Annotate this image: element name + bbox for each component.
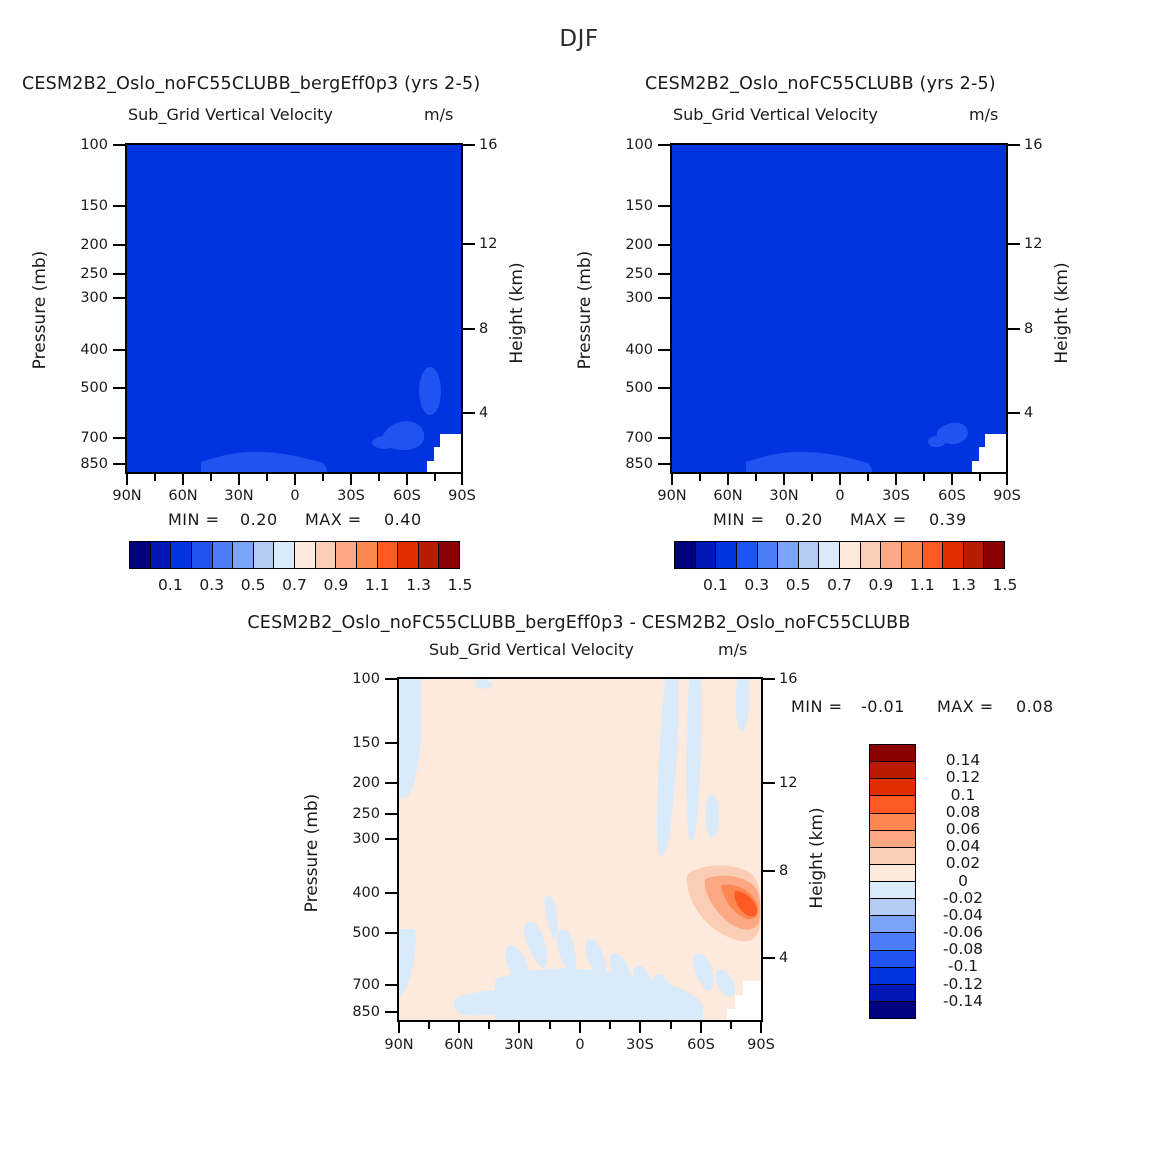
x-tick-label-90N-bottom: 90N xyxy=(369,1037,429,1053)
max-label-bottom: MAX = xyxy=(937,697,994,716)
y-right-tick-label-16-b: 16 xyxy=(779,671,797,687)
x-tick-label-90S-top-right: 90S xyxy=(977,488,1037,504)
colorbar-top-left xyxy=(129,541,460,569)
colorbar-cell xyxy=(870,762,915,779)
colorbar-cell xyxy=(758,542,779,568)
plot-area-bottom xyxy=(397,677,763,1022)
y-tick-label-150-r: 150 xyxy=(608,198,653,214)
colorbar-tick-label: 0.1 xyxy=(150,576,190,594)
y-tick-label-100-r: 100 xyxy=(608,137,653,153)
min-label-bottom: MIN = xyxy=(791,697,842,716)
colorbar-tick-label: 0.5 xyxy=(233,576,273,594)
colorbar-tick-label: -0.12 xyxy=(920,975,1006,993)
x-tick-label-0-bottom: 0 xyxy=(550,1037,610,1053)
y-tick-label-700-r: 700 xyxy=(608,430,653,446)
y-tick-label-300: 300 xyxy=(63,290,108,306)
colorbar-tick-label: -0.1 xyxy=(920,957,1006,975)
max-value-top-right: 0.39 xyxy=(929,510,967,529)
x-tick-label-90S-bottom: 90S xyxy=(731,1037,791,1053)
colorbar-cell xyxy=(398,542,419,568)
colorbar-cell xyxy=(716,542,737,568)
y-tick-label-850-b: 850 xyxy=(335,1004,380,1020)
colorbar-tick-label: 1.5 xyxy=(985,576,1025,594)
colorbar-tick-label: 0.02 xyxy=(920,854,1006,872)
colorbar-cell xyxy=(870,933,915,950)
y-tick-label-850-r: 850 xyxy=(608,456,653,472)
max-label-top-left: MAX = xyxy=(305,510,362,529)
min-value-top-right: 0.20 xyxy=(785,510,823,529)
colorbar-bottom xyxy=(869,744,916,1019)
y-axis-title-right-bottom: Height (km) xyxy=(807,782,827,934)
y-tick-label-400: 400 xyxy=(63,342,108,358)
colorbar-cell xyxy=(254,542,275,568)
y-right-tick-label-12: 12 xyxy=(479,236,497,252)
colorbar-cell xyxy=(778,542,799,568)
colorbar-cell xyxy=(840,542,861,568)
min-value-bottom: -0.01 xyxy=(861,697,905,716)
y-tick-label-150-b: 150 xyxy=(335,735,380,751)
x-tick-label-30S-bottom: 30S xyxy=(610,1037,670,1053)
y-right-tick-label-4-r: 4 xyxy=(1024,405,1033,421)
panel-units-bottom: m/s xyxy=(718,640,747,659)
colorbar-tick-label: 1.1 xyxy=(357,576,397,594)
colorbar-cell xyxy=(696,542,717,568)
y-right-tick-label-16-r: 16 xyxy=(1024,137,1042,153)
max-value-bottom: 0.08 xyxy=(1016,697,1054,716)
colorbar-cell xyxy=(357,542,378,568)
colorbar-cell xyxy=(870,779,915,796)
panel-variable-top-right: Sub_Grid Vertical Velocity xyxy=(673,105,878,124)
y-tick-label-300-b: 300 xyxy=(335,831,380,847)
colorbar-cell xyxy=(151,542,172,568)
y-axis-title-right-top-left: Height (km) xyxy=(507,237,527,389)
x-tick-label-30N-bottom: 30N xyxy=(489,1037,549,1053)
contour-field-bottom xyxy=(399,679,761,1020)
colorbar-cell xyxy=(378,542,399,568)
y-tick-label-500-r: 500 xyxy=(608,380,653,396)
colorbar-cell xyxy=(737,542,758,568)
y-right-tick-label-4-b: 4 xyxy=(779,950,788,966)
panel-variable-bottom: Sub_Grid Vertical Velocity xyxy=(429,640,634,659)
colorbar-cell xyxy=(439,542,459,568)
colorbar-tick-label: 0.3 xyxy=(192,576,232,594)
colorbar-cell xyxy=(870,1002,915,1018)
y-tick-label-200: 200 xyxy=(63,237,108,253)
colorbar-tick-label: 0.7 xyxy=(275,576,315,594)
colorbar-tick-label: 1.3 xyxy=(399,576,439,594)
y-tick-label-850: 850 xyxy=(63,456,108,472)
colorbar-cell xyxy=(902,542,923,568)
colorbar-tick-label: 0.1 xyxy=(920,786,1006,804)
colorbar-cell xyxy=(171,542,192,568)
colorbar-tick-label: -0.04 xyxy=(920,906,1006,924)
panel-variable-top-left: Sub_Grid Vertical Velocity xyxy=(128,105,333,124)
y-tick-label-200-b: 200 xyxy=(335,775,380,791)
y-right-tick-label-4: 4 xyxy=(479,405,488,421)
colorbar-tick-label: 0.5 xyxy=(778,576,818,594)
colorbar-tick-label: 0.14 xyxy=(920,751,1006,769)
y-right-tick-label-12-r: 12 xyxy=(1024,236,1042,252)
x-tick-label-30N-top-left: 30N xyxy=(209,488,269,504)
colorbar-tick-label: 0.06 xyxy=(920,820,1006,838)
contour-field-top-left xyxy=(127,145,461,472)
colorbar-cell xyxy=(870,865,915,882)
x-tick-label-30S-top-left: 30S xyxy=(321,488,381,504)
colorbar-tick-label: 0.7 xyxy=(820,576,860,594)
colorbar-cell xyxy=(870,951,915,968)
colorbar-cell xyxy=(870,745,915,762)
max-label-top-right: MAX = xyxy=(850,510,907,529)
colorbar-tick-label: 0.1 xyxy=(695,576,735,594)
y-axis-title-left-top-right: Pressure (mb) xyxy=(575,225,595,395)
colorbar-cell xyxy=(881,542,902,568)
colorbar-cell xyxy=(870,916,915,933)
x-tick-label-60S-bottom: 60S xyxy=(671,1037,731,1053)
panel-title-bottom: CESM2B2_Oslo_noFC55CLUBB_bergEff0p3 - CE… xyxy=(0,613,1158,633)
panel-title-top-left: CESM2B2_Oslo_noFC55CLUBB_bergEff0p3 (yrs… xyxy=(22,74,480,94)
panel-units-top-right: m/s xyxy=(969,105,998,124)
max-value-top-left: 0.40 xyxy=(384,510,422,529)
colorbar-cell xyxy=(274,542,295,568)
colorbar-cell xyxy=(192,542,213,568)
y-right-tick-label-8-b: 8 xyxy=(779,863,788,879)
y-right-tick-label-8: 8 xyxy=(479,321,488,337)
plot-area-top-right xyxy=(670,143,1008,474)
x-tick-label-30S-top-right: 30S xyxy=(866,488,926,504)
y-tick-label-700-b: 700 xyxy=(335,977,380,993)
colorbar-cell xyxy=(213,542,234,568)
y-axis-title-left-top-left: Pressure (mb) xyxy=(30,225,50,395)
colorbar-cell xyxy=(295,542,316,568)
colorbar-tick-label: 0.12 xyxy=(920,768,1006,786)
colorbar-tick-label: 0.04 xyxy=(920,837,1006,855)
colorbar-cell xyxy=(819,542,840,568)
colorbar-cell xyxy=(870,848,915,865)
colorbar-tick-label: -0.06 xyxy=(920,923,1006,941)
min-label-top-right: MIN = xyxy=(713,510,764,529)
colorbar-cell xyxy=(316,542,337,568)
y-tick-label-250-b: 250 xyxy=(335,806,380,822)
colorbar-cell xyxy=(336,542,357,568)
figure-suptitle: DJF xyxy=(0,26,1158,52)
colorbar-tick-label: 1.1 xyxy=(902,576,942,594)
colorbar-tick-label: -0.14 xyxy=(920,992,1006,1010)
min-value-top-left: 0.20 xyxy=(240,510,278,529)
x-tick-label-0-top-right: 0 xyxy=(810,488,870,504)
x-tick-label-60N-bottom: 60N xyxy=(429,1037,489,1053)
x-tick-label-60N-top-left: 60N xyxy=(153,488,213,504)
y-tick-label-400-r: 400 xyxy=(608,342,653,358)
colorbar-cell xyxy=(870,882,915,899)
colorbar-tick-label: 0.9 xyxy=(861,576,901,594)
colorbar-top-right xyxy=(674,541,1005,569)
y-tick-label-250: 250 xyxy=(63,266,108,282)
y-right-tick-label-12-b: 12 xyxy=(779,775,797,791)
x-tick-label-60S-top-right: 60S xyxy=(922,488,982,504)
x-tick-label-30N-top-right: 30N xyxy=(754,488,814,504)
colorbar-cell xyxy=(130,542,151,568)
x-tick-label-60S-top-left: 60S xyxy=(377,488,437,504)
colorbar-labels-bottom: 0.140.120.10.080.060.040.020-0.02-0.04-0… xyxy=(920,744,1010,1019)
colorbar-cell xyxy=(870,814,915,831)
y-tick-label-700: 700 xyxy=(63,430,108,446)
colorbar-tick-label: 0 xyxy=(920,872,1006,890)
colorbar-cell xyxy=(419,542,440,568)
colorbar-cell xyxy=(943,542,964,568)
x-tick-label-60N-top-right: 60N xyxy=(698,488,758,504)
colorbar-cell xyxy=(870,796,915,813)
colorbar-tick-label: 1.3 xyxy=(944,576,984,594)
colorbar-cell xyxy=(861,542,882,568)
colorbar-cell xyxy=(870,985,915,1002)
y-tick-label-500: 500 xyxy=(63,380,108,396)
y-tick-label-150: 150 xyxy=(63,198,108,214)
y-tick-label-100-b: 100 xyxy=(335,671,380,687)
colorbar-cell xyxy=(964,542,985,568)
colorbar-tick-label: -0.02 xyxy=(920,889,1006,907)
y-axis-title-left-bottom: Pressure (mb) xyxy=(302,768,322,938)
y-tick-label-400-b: 400 xyxy=(335,885,380,901)
y-tick-label-100: 100 xyxy=(63,137,108,153)
colorbar-cell xyxy=(923,542,944,568)
y-right-tick-label-8-r: 8 xyxy=(1024,321,1033,337)
contour-field-top-right xyxy=(672,145,1006,472)
y-tick-label-500-b: 500 xyxy=(335,925,380,941)
min-label-top-left: MIN = xyxy=(168,510,219,529)
colorbar-cell xyxy=(799,542,820,568)
colorbar-tick-label: 0.3 xyxy=(737,576,777,594)
x-tick-label-90N-top-right: 90N xyxy=(642,488,702,504)
x-tick-label-90S-top-left: 90S xyxy=(432,488,492,504)
colorbar-tick-label: 1.5 xyxy=(440,576,480,594)
colorbar-tick-label: 0.9 xyxy=(316,576,356,594)
colorbar-labels-top-left: 0.10.30.50.70.91.11.31.5 xyxy=(129,576,460,598)
panel-title-top-right: CESM2B2_Oslo_noFC55CLUBB (yrs 2-5) xyxy=(645,74,996,94)
y-tick-label-250-r: 250 xyxy=(608,266,653,282)
colorbar-tick-label: -0.08 xyxy=(920,940,1006,958)
colorbar-cell xyxy=(870,899,915,916)
x-tick-label-0-top-left: 0 xyxy=(265,488,325,504)
y-right-tick-label-16: 16 xyxy=(479,137,497,153)
y-tick-label-200-r: 200 xyxy=(608,237,653,253)
colorbar-cell xyxy=(870,831,915,848)
colorbar-cell xyxy=(870,968,915,985)
x-tick-label-90N-top-left: 90N xyxy=(97,488,157,504)
colorbar-cell xyxy=(233,542,254,568)
colorbar-tick-label: 0.08 xyxy=(920,803,1006,821)
panel-units-top-left: m/s xyxy=(424,105,453,124)
plot-area-top-left xyxy=(125,143,463,474)
y-axis-title-right-top-right: Height (km) xyxy=(1052,237,1072,389)
colorbar-cell xyxy=(984,542,1004,568)
colorbar-cell xyxy=(675,542,696,568)
colorbar-labels-top-right: 0.10.30.50.70.91.11.31.5 xyxy=(674,576,1005,598)
y-tick-label-300-r: 300 xyxy=(608,290,653,306)
